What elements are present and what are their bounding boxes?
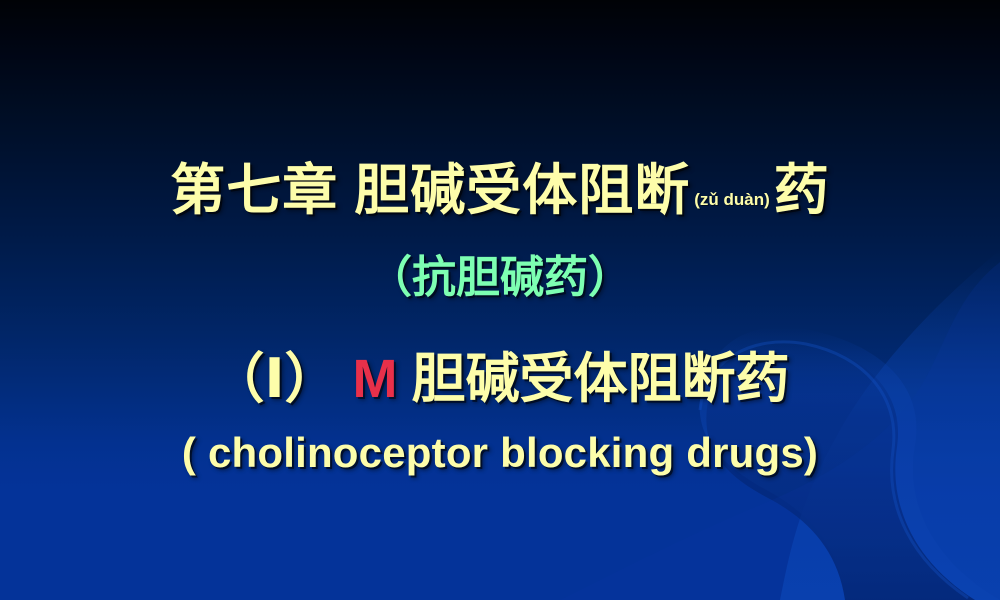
slide-text-block: 第七章胆碱受体阻断(zǔ duàn)药 （抗胆碱药） （Ⅰ）M胆碱受体阻断药 (…	[0, 0, 1000, 600]
title-suffix: 药	[774, 159, 830, 221]
title-chapter: 第七章	[170, 159, 338, 221]
section-marker-m: M	[353, 349, 398, 409]
title-main: 胆碱受体阻断	[354, 159, 690, 221]
slide-section-line: （Ⅰ）M胆碱受体阻断药	[0, 352, 1000, 406]
presentation-slide: 第七章胆碱受体阻断(zǔ duàn)药 （抗胆碱药） （Ⅰ）M胆碱受体阻断药 (…	[0, 0, 1000, 600]
section-text: 胆碱受体阻断药	[412, 349, 790, 409]
title-pinyin-annotation: (zǔ duàn)	[690, 190, 774, 209]
slide-subtitle-line: （抗胆碱药）	[0, 256, 1000, 300]
section-numeral: （Ⅰ）	[210, 349, 338, 409]
slide-title-line: 第七章胆碱受体阻断(zǔ duàn)药	[0, 163, 1000, 218]
slide-english-line: ( cholinoceptor blocking drugs)	[0, 432, 1000, 474]
